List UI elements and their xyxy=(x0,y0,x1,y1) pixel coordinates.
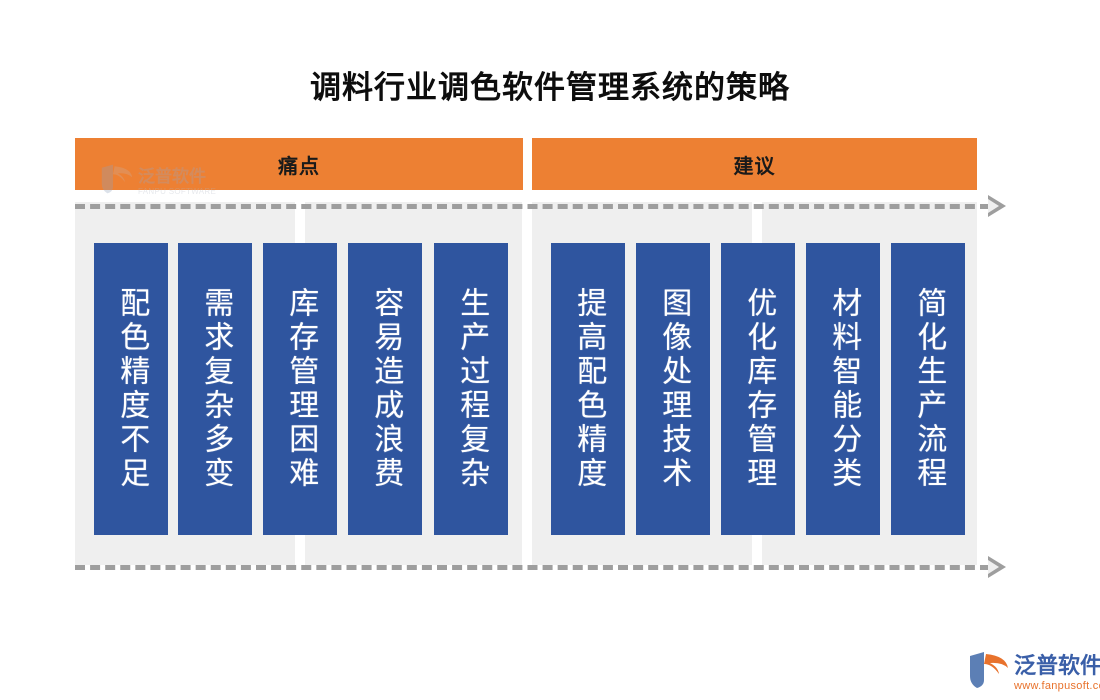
section-header-label: 痛点 xyxy=(278,150,320,179)
watermark-bottom-right: 泛普软件 www.fanpusoft.com xyxy=(968,648,1100,692)
suggestion-card-1[interactable]: 提高配色精度 xyxy=(551,243,625,535)
suggestion-label-4: 材料智能分类 xyxy=(827,287,859,491)
pain-point-card-5[interactable]: 生产过程复杂 xyxy=(434,243,508,535)
pain-point-card-4[interactable]: 容易造成浪费 xyxy=(348,243,422,535)
pain-point-label-3: 库存管理困难 xyxy=(284,287,316,491)
suggestion-card-5[interactable]: 简化生产流程 xyxy=(891,243,965,535)
pain-point-card-2[interactable]: 需求复杂多变 xyxy=(178,243,252,535)
suggestion-card-3[interactable]: 优化库存管理 xyxy=(721,243,795,535)
pain-point-label-1: 配色精度不足 xyxy=(115,287,147,491)
pain-point-label-5: 生产过程复杂 xyxy=(455,287,487,491)
suggestion-card-2[interactable]: 图像处理技术 xyxy=(636,243,710,535)
suggestion-card-4[interactable]: 材料智能分类 xyxy=(806,243,880,535)
section-header-suggestions: 建议 xyxy=(532,138,977,190)
watermark-brand-cn: 泛普软件 xyxy=(1014,648,1100,680)
watermark-brand-en: www.fanpusoft.com xyxy=(1014,680,1100,692)
suggestion-label-3: 优化库存管理 xyxy=(742,287,774,491)
fanpu-logo-icon xyxy=(968,650,1010,690)
suggestion-label-2: 图像处理技术 xyxy=(657,287,689,491)
pain-point-label-4: 容易造成浪费 xyxy=(369,287,401,491)
slide-canvas: 调料行业调色软件管理系统的策略 痛点 建议 配色精度不足 需求复杂多变 库存管理… xyxy=(0,0,1100,700)
section-header-label: 建议 xyxy=(734,150,776,179)
pain-point-card-3[interactable]: 库存管理困难 xyxy=(263,243,337,535)
flow-arrow-top-notch-icon xyxy=(988,199,999,213)
flow-arrow-bottom-notch-icon xyxy=(988,560,999,574)
suggestion-label-1: 提高配色精度 xyxy=(572,287,604,491)
flow-line-bottom xyxy=(75,565,990,570)
section-header-pain-points: 痛点 xyxy=(75,138,523,190)
suggestion-label-5: 简化生产流程 xyxy=(912,287,944,491)
pain-point-label-2: 需求复杂多变 xyxy=(199,287,231,491)
flow-line-top xyxy=(75,204,990,209)
pain-point-card-1[interactable]: 配色精度不足 xyxy=(94,243,168,535)
page-title: 调料行业调色软件管理系统的策略 xyxy=(0,62,1100,107)
